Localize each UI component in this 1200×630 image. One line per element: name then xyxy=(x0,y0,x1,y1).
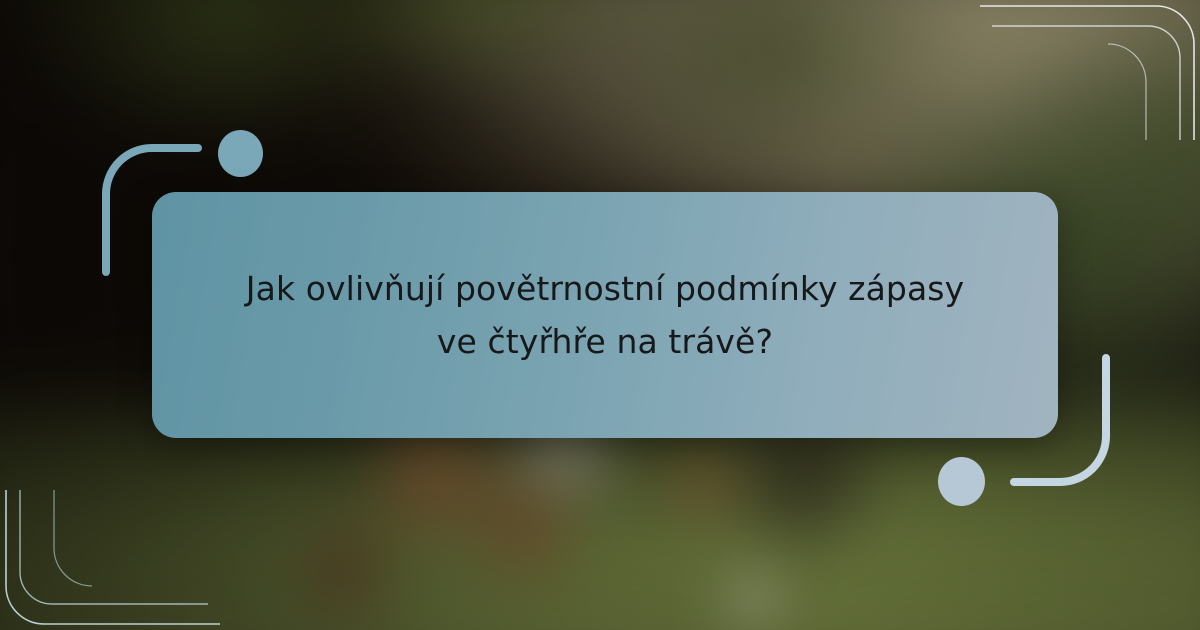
headline-card: Jak ovlivňují povětrnostní podmínky zápa… xyxy=(152,192,1058,438)
social-card-canvas: Jak ovlivňují povětrnostní podmínky zápa… xyxy=(0,0,1200,630)
circle-dot-bottom-right xyxy=(938,457,985,506)
circle-dot-top-left xyxy=(218,130,263,177)
page-title: Jak ovlivňují povětrnostní podmínky zápa… xyxy=(225,262,985,369)
